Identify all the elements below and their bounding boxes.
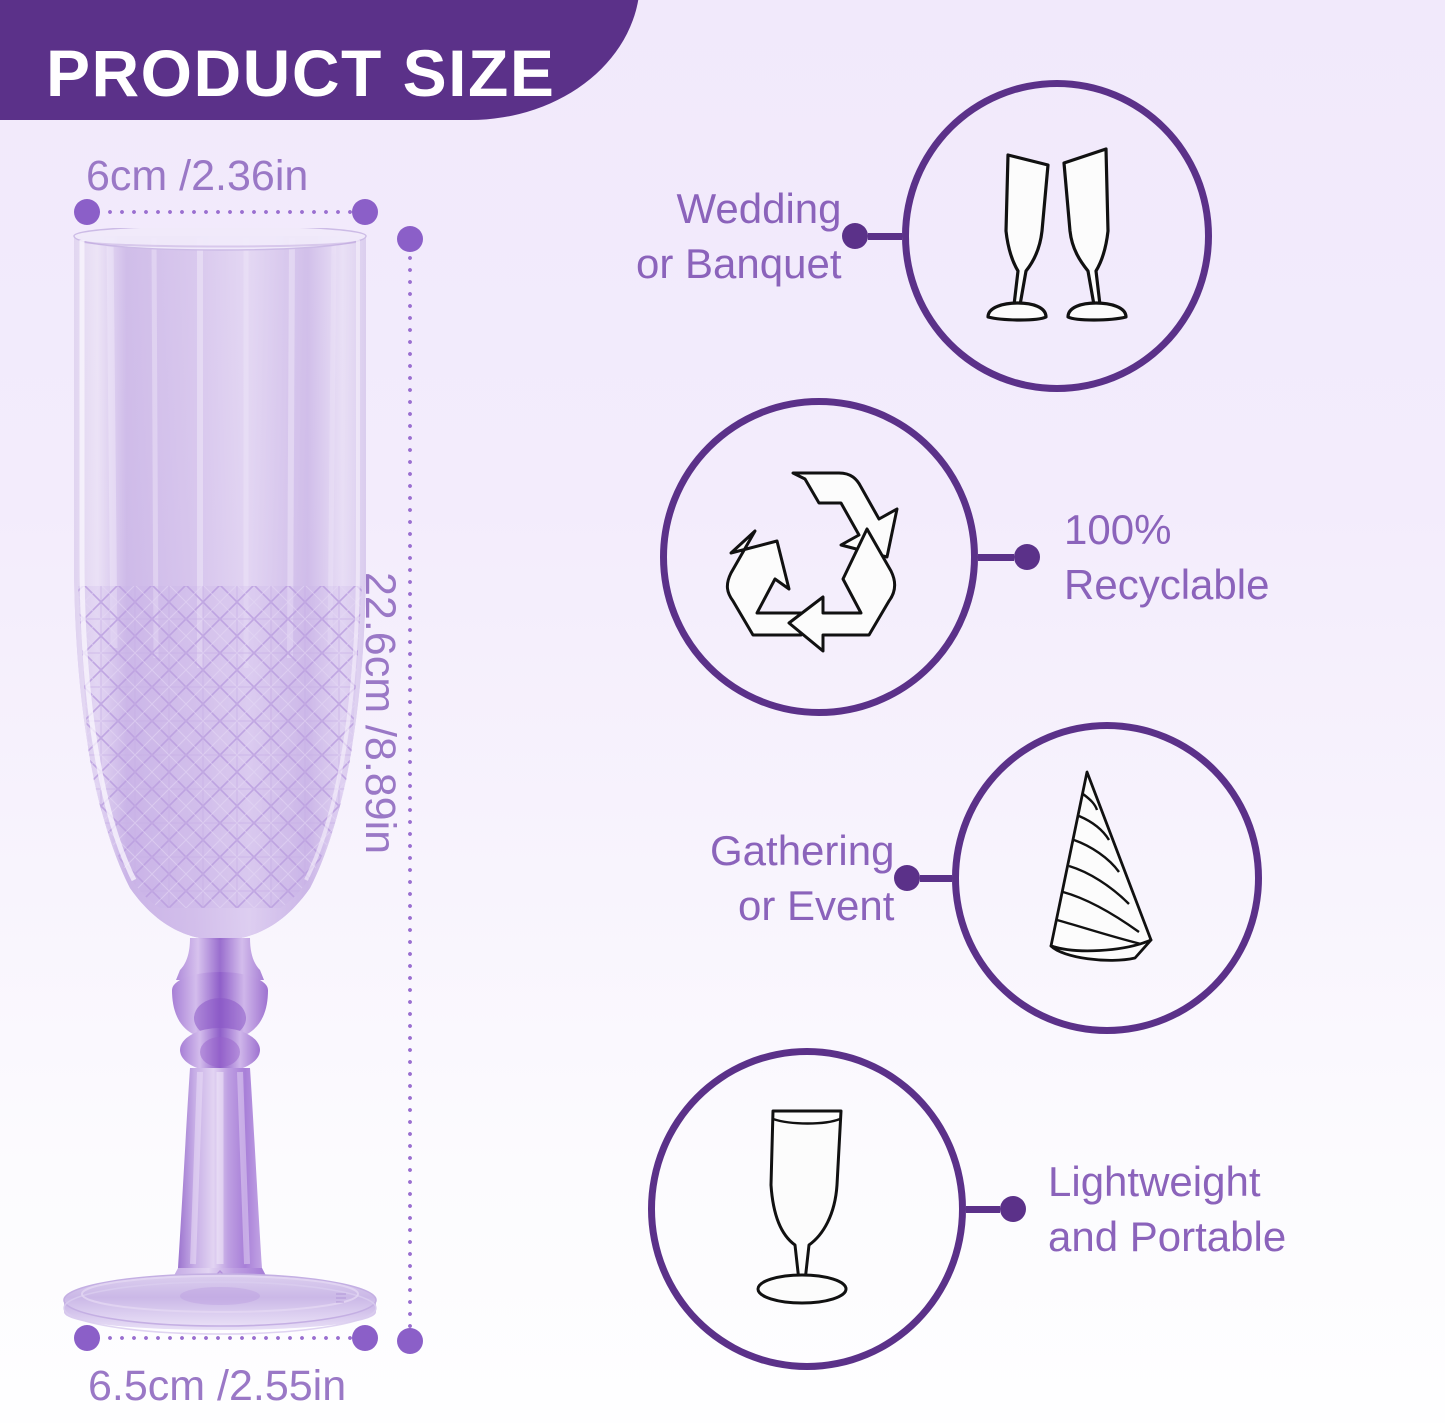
connector-lightweight [966,1196,1026,1222]
two-champagne-flutes-toasting-icon [942,121,1172,351]
feature-line-2: or Event [710,878,894,933]
feature-label-recyclable: 100% Recyclable [1064,502,1269,613]
dimension-dot-top-right [352,199,378,225]
connector-line [978,554,1014,561]
feature-label-gathering-or-event: Gathering or Event [710,823,894,934]
dimension-dot-height-bottom [397,1328,423,1354]
connector-dot-icon [1014,544,1040,570]
connector-line [966,1206,1000,1213]
connector-line [868,233,902,240]
recycling-symbol-icon [701,439,937,675]
feature-label-lightweight: Lightweight and Portable [1048,1154,1286,1265]
feature-line-2: Recyclable [1064,557,1269,612]
connector-dot-icon [894,865,920,891]
feature-icon-circle-gathering [952,722,1262,1034]
product-size-infographic: PRODUCT SIZE [0,0,1445,1423]
feature-line-1: Wedding [676,185,841,232]
feature-icon-circle-recyclable [660,398,978,716]
feature-line-1: Lightweight [1048,1158,1260,1205]
dimension-dot-top-left [74,199,100,225]
feature-wedding-or-banquet: Wedding or Banquet [636,80,1212,392]
dimension-dot-base-right [352,1325,378,1351]
dimension-line-base-width [92,1336,360,1340]
connector-recyclable [978,544,1040,570]
party-hat-icon [991,762,1223,994]
page-title: PRODUCT SIZE [46,40,555,106]
single-champagne-flute-icon [687,1089,927,1329]
feature-gathering-or-event: Gathering or Event [710,722,1262,1034]
dimension-label-base-width: 6.5cm /2.55in [88,1362,346,1411]
connector-dot-icon [1000,1196,1026,1222]
feature-line-2: and Portable [1048,1209,1286,1264]
feature-label-wedding-or-banquet: Wedding or Banquet [636,181,842,292]
dimension-dot-base-left [74,1325,100,1351]
dimension-line-height [408,252,412,1330]
dimension-line-top-width [92,210,360,214]
glass-stem-column [148,1068,292,1308]
feature-line-2: or Banquet [636,236,842,291]
feature-line-1: Gathering [710,827,894,874]
product-image-champagne-flute [50,228,390,1338]
glass-stem-knop [172,938,268,1072]
dimension-label-height: 22.6cm /8.89in [355,572,404,854]
feature-icon-circle-lightweight [648,1048,966,1370]
connector-dot-icon [842,223,868,249]
feature-lightweight-and-portable: Lightweight and Portable [648,1048,1286,1370]
connector-wedding [842,223,902,249]
dimension-dot-height-top [397,226,423,252]
feature-line-1: 100% [1064,506,1171,553]
glass-foot [64,1274,376,1334]
feature-icon-circle-wedding [902,80,1212,392]
feature-recyclable: 100% Recyclable [660,398,1269,716]
glass-bowl [50,228,390,940]
header-banner: PRODUCT SIZE [0,0,640,120]
dimension-label-top-width: 6cm /2.36in [86,152,308,201]
connector-line [920,875,952,882]
connector-gathering [894,865,952,891]
